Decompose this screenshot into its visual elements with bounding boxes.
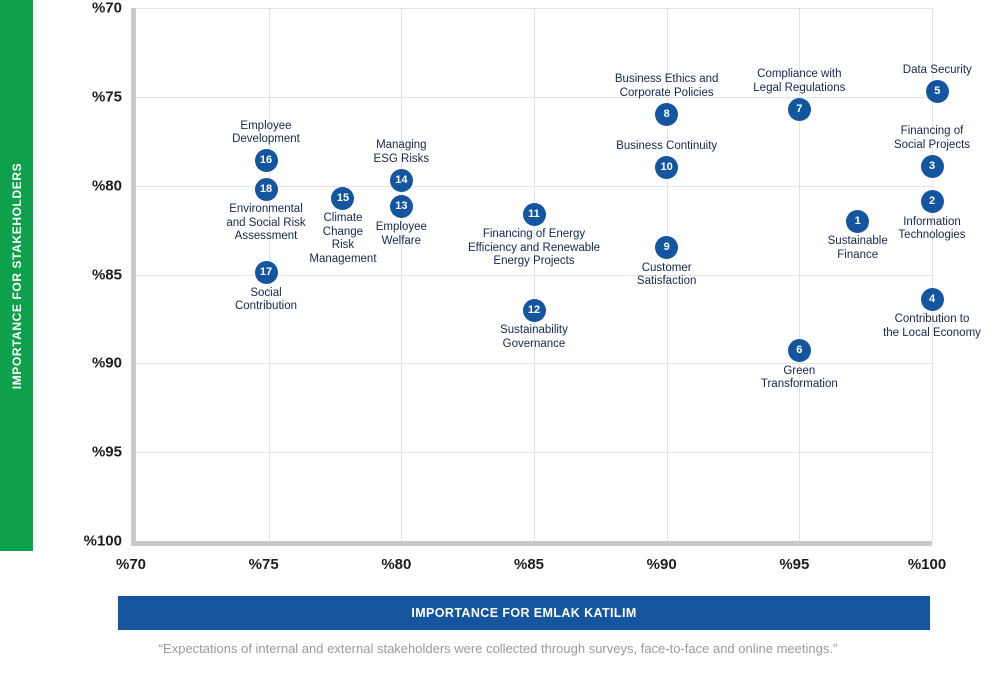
data-point-marker[interactable]: 6 bbox=[788, 339, 811, 362]
gridline-vertical bbox=[534, 8, 535, 541]
y-axis-tick-label: %95 bbox=[12, 444, 122, 461]
x-axis-title: IMPORTANCE FOR EMLAK KATILIM bbox=[411, 606, 636, 620]
data-point-marker[interactable]: 12 bbox=[523, 299, 546, 322]
data-point-marker[interactable]: 3 bbox=[921, 155, 944, 178]
data-point-marker[interactable]: 5 bbox=[926, 80, 949, 103]
data-point-marker[interactable]: 16 bbox=[255, 149, 278, 172]
data-point-label: Contribution to the Local Economy bbox=[857, 313, 996, 340]
data-point-marker[interactable]: 9 bbox=[655, 236, 678, 259]
scatter-plot-area: 1Sustainable Finance2Information Technol… bbox=[131, 8, 932, 546]
data-point-marker[interactable]: 7 bbox=[788, 98, 811, 121]
x-axis-tick-label: %80 bbox=[381, 556, 411, 573]
y-axis-tick-label: %70 bbox=[12, 0, 122, 17]
data-point-marker[interactable]: 11 bbox=[523, 203, 546, 226]
data-point-label: Data Security bbox=[882, 64, 992, 78]
x-axis-tick-label: %70 bbox=[116, 556, 146, 573]
gridline-vertical bbox=[401, 8, 402, 541]
data-point-marker[interactable]: 2 bbox=[921, 190, 944, 213]
data-point-marker[interactable]: 15 bbox=[331, 187, 354, 210]
data-point-label: Managing ESG Risks bbox=[346, 139, 456, 166]
data-point-label: Customer Satisfaction bbox=[612, 262, 722, 289]
data-point-label: Environmental and Social Risk Assessment bbox=[211, 203, 321, 244]
data-point-marker[interactable]: 8 bbox=[655, 103, 678, 126]
chart-caption: “Expectations of internal and external s… bbox=[0, 641, 996, 656]
x-axis-tick-label: %90 bbox=[647, 556, 677, 573]
data-point-label: Financing of Energy Efficiency and Renew… bbox=[449, 228, 619, 269]
data-point-label: Compliance with Legal Regulations bbox=[724, 68, 874, 95]
y-axis-tick-label: %75 bbox=[12, 88, 122, 105]
data-point-label: Green Transformation bbox=[744, 365, 854, 392]
data-point-marker[interactable]: 4 bbox=[921, 288, 944, 311]
data-point-marker[interactable]: 18 bbox=[255, 178, 278, 201]
data-point-marker[interactable]: 1 bbox=[846, 210, 869, 233]
y-axis-tick-label: %85 bbox=[12, 266, 122, 283]
data-point-label: Social Contribution bbox=[211, 287, 321, 314]
x-axis-tick-label: %100 bbox=[908, 556, 946, 573]
y-axis-tick-label: %90 bbox=[12, 355, 122, 372]
y-axis-tick-label: %80 bbox=[12, 177, 122, 194]
data-point-label: Employee Development bbox=[211, 120, 321, 147]
x-axis-tick-label: %85 bbox=[514, 556, 544, 573]
x-axis-title-banner: IMPORTANCE FOR EMLAK KATILIM bbox=[118, 596, 930, 630]
data-point-marker[interactable]: 14 bbox=[390, 169, 413, 192]
y-axis-tick-label: %100 bbox=[12, 533, 122, 550]
data-point-label: Business Continuity bbox=[592, 140, 742, 154]
x-axis-tick-label: %75 bbox=[249, 556, 279, 573]
data-point-marker[interactable]: 10 bbox=[655, 156, 678, 179]
data-point-label: Financing of Social Projects bbox=[877, 125, 987, 152]
data-point-label: Sustainability Governance bbox=[479, 324, 589, 351]
data-point-marker[interactable]: 17 bbox=[255, 261, 278, 284]
data-point-label: Information Technologies bbox=[877, 216, 987, 243]
data-point-label: Business Ethics and Corporate Policies bbox=[592, 73, 742, 100]
x-axis-tick-label: %95 bbox=[779, 556, 809, 573]
y-axis-tick-labels: %100%95%90%85%80%75%70 bbox=[10, 0, 122, 560]
